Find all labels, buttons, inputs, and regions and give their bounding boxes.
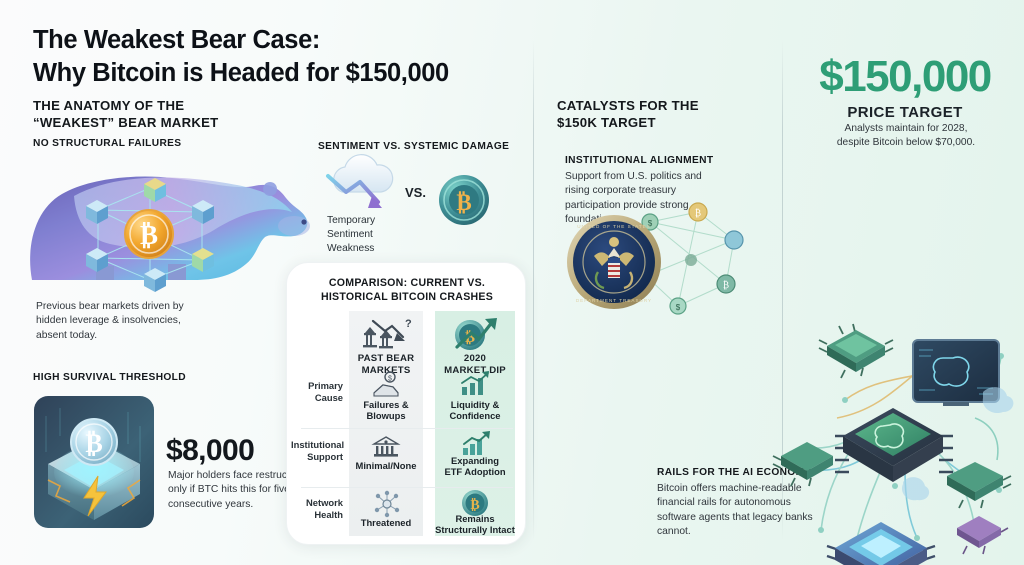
cell-network-health-now: Remains Structurally Intact — [433, 513, 517, 536]
falling-chart-pillars-icon: ? — [361, 317, 411, 351]
cell-network-health-past: Threatened — [349, 517, 423, 528]
svg-text:₿: ₿ — [695, 208, 701, 218]
title-line-1: The Weakest Bear Case: — [33, 24, 533, 57]
svg-text:₿: ₿ — [85, 429, 102, 458]
cloud-down-arrow-icon — [316, 158, 416, 220]
label-sentiment-vs-systemic: SENTIMENT VS. SYSTEMIC DAMAGE — [318, 141, 509, 152]
fragile-network-icon — [373, 491, 401, 517]
label-high-survival-threshold: HIGH SURVIVAL THRESHOLD — [33, 372, 186, 383]
svg-text:$: $ — [676, 303, 681, 312]
row-label-institutional-support: Institutional Support — [291, 439, 343, 463]
vault-cube-bitcoin-illustration: ₿ — [30, 392, 158, 532]
price-target-body-line1: Analysts maintain for 2028, — [800, 122, 1012, 136]
row-divider-2 — [301, 487, 513, 488]
chip-small-pink — [957, 516, 1008, 554]
svg-text:₿: ₿ — [723, 280, 729, 290]
cell-primary-cause-past: Failures & Blowups — [349, 399, 423, 422]
survival-threshold-value: $8,000 — [166, 434, 254, 468]
treasury-seal-network-illustration: ₿ $ ₿ $ — [558, 198, 758, 328]
vs-label: VS. — [405, 185, 426, 200]
row-label-network-health: Network Health — [295, 497, 343, 521]
title-line-2: Why Bitcoin is Headed for $150,000 — [33, 57, 533, 90]
price-target-label: PRICE TARGET — [800, 104, 1010, 121]
right-section-heading-line1: CATALYSTS FOR THE — [557, 98, 777, 115]
left-section-heading: THE ANATOMY OF THE “WEAKEST” BEAR MARKET — [33, 98, 263, 131]
svg-text:$: $ — [388, 376, 392, 383]
temporary-sentiment-weakness-caption: Temporary Sentiment Weakness — [327, 214, 397, 255]
cell-institutional-support-past: Minimal/None — [349, 460, 423, 471]
page-title: The Weakest Bear Case: Why Bitcoin is He… — [33, 24, 533, 90]
label-no-structural-failures: NO STRUCTURAL FAILURES — [33, 138, 181, 149]
cell-institutional-support-now: Expanding ETF Adoption — [435, 455, 515, 478]
svg-text:₿: ₿ — [456, 190, 471, 215]
price-target-body-line2: despite Bitcoin below $70,000. — [800, 136, 1012, 150]
no-structural-failures-body: Previous bear markets driven by hidden l… — [36, 300, 211, 343]
svg-text:₿: ₿ — [470, 497, 479, 513]
svg-text:UNITED OF THE STATES: UNITED OF THE STATES — [577, 224, 651, 229]
bear-blockchain-illustration: ₿ — [18, 152, 318, 300]
row-divider-1 — [301, 428, 513, 429]
ai-chips-network-illustration — [785, 300, 1020, 555]
divider-left-center — [533, 40, 534, 540]
svg-text:?: ? — [405, 318, 412, 330]
bar-chart-up-icon — [459, 371, 491, 397]
infographic-canvas: The Weakest Bear Case: Why Bitcoin is He… — [0, 0, 1024, 565]
svg-text:DEPARTMENT TREASURY: DEPARTMENT TREASURY — [576, 298, 652, 303]
hand-money-icon: $ — [371, 371, 401, 397]
comparison-title: COMPARISON: CURRENT vs. HISTORICAL BITCO… — [297, 277, 517, 305]
right-section-heading: CATALYSTS FOR THE $150K TARGET — [557, 98, 777, 131]
right-section-heading-line2: $150K TARGET — [557, 115, 777, 132]
left-section-heading-line1: THE ANATOMY OF THE — [33, 98, 263, 115]
comparison-card: COMPARISON: CURRENT vs. HISTORICAL BITCO… — [286, 262, 526, 545]
bitcoin-rising-arrow-icon: ₿ — [449, 315, 501, 353]
bitcoin-coin-icon: ₿ — [437, 173, 491, 227]
chip-small-top — [819, 324, 893, 378]
comparison-title-line1: COMPARISON: CURRENT vs. — [297, 277, 517, 291]
cell-primary-cause-now: Liquidity & Confidence — [435, 399, 515, 422]
comparison-title-line2: HISTORICAL BITCOIN CRASHES — [297, 291, 517, 305]
left-section-heading-line2: “WEAKEST” BEAR MARKET — [33, 115, 263, 132]
price-target-value: $150,000 — [800, 55, 1010, 99]
label-institutional-alignment: INSTITUTIONAL ALIGNMENT — [565, 155, 713, 166]
price-target-body: Analysts maintain for 2028, despite Bitc… — [800, 122, 1012, 151]
bitcoin-coin-icon: ₿ — [71, 419, 117, 465]
growth-chart-icon — [461, 431, 491, 457]
row-label-primary-cause: Primary Cause — [295, 380, 343, 404]
svg-text:₿: ₿ — [140, 220, 158, 250]
bank-building-icon — [372, 435, 400, 459]
bitcoin-logo-icon: ₿ — [125, 210, 173, 258]
chip-bottom-glowing — [827, 522, 935, 565]
